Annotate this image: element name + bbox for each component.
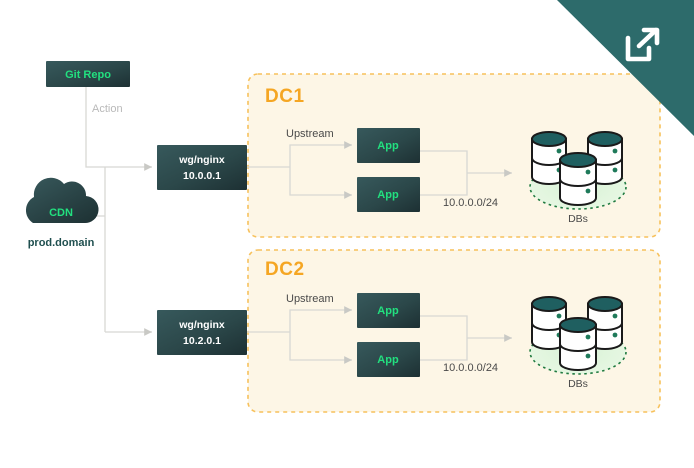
node-git-repo-label: Git Repo [65,69,111,81]
node-gateway-dc1[interactable]: wg/nginx 10.0.0.1 [157,145,247,190]
node-cdn-label: CDN [49,207,73,219]
edge-label-upstream-dc2: Upstream [286,293,334,305]
node-app-dc2-2[interactable]: App [357,342,420,377]
node-git-repo[interactable]: Git Repo [46,61,130,87]
node-dbs-dc2-caption: DBs [568,378,588,390]
diagram-canvas: Git Repo Action CDN prod.domain DC1 wg/n… [0,0,694,468]
zone-title-dc2: DC2 [265,259,305,280]
node-app-dc1-2[interactable]: App [357,177,420,212]
node-app-dc1-1[interactable]: App [357,128,420,163]
node-app-dc1-1-label: App [377,140,399,152]
edge-label-subnet-dc2: 10.0.0.0/24 [443,362,498,374]
edge-label-action: Action [92,103,123,115]
node-cdn[interactable]: CDN [26,178,99,223]
node-cdn-caption: prod.domain [28,237,95,249]
edge-gitrepo-to-gateway [86,87,152,167]
node-app-dc2-2-label: App [377,354,399,366]
node-app-dc2-1-label: App [377,305,399,317]
node-app-dc1-2-label: App [377,189,399,201]
edge-label-upstream-dc1: Upstream [286,128,334,140]
node-gateway-dc2-line2: 10.2.0.1 [183,335,221,347]
node-app-dc2-1[interactable]: App [357,293,420,328]
architecture-diagram: Git Repo Action CDN prod.domain DC1 wg/n… [0,0,694,468]
node-gateway-dc1-line2: 10.0.0.1 [183,170,221,182]
node-dbs-dc1-caption: DBs [568,213,588,225]
node-gateway-dc1-line1: wg/nginx [178,154,225,166]
zone-title-dc1: DC1 [265,86,305,107]
node-gateway-dc2[interactable]: wg/nginx 10.2.0.1 [157,310,247,355]
node-gateway-dc2-line1: wg/nginx [178,319,225,331]
edge-label-subnet-dc1: 10.0.0.0/24 [443,197,498,209]
